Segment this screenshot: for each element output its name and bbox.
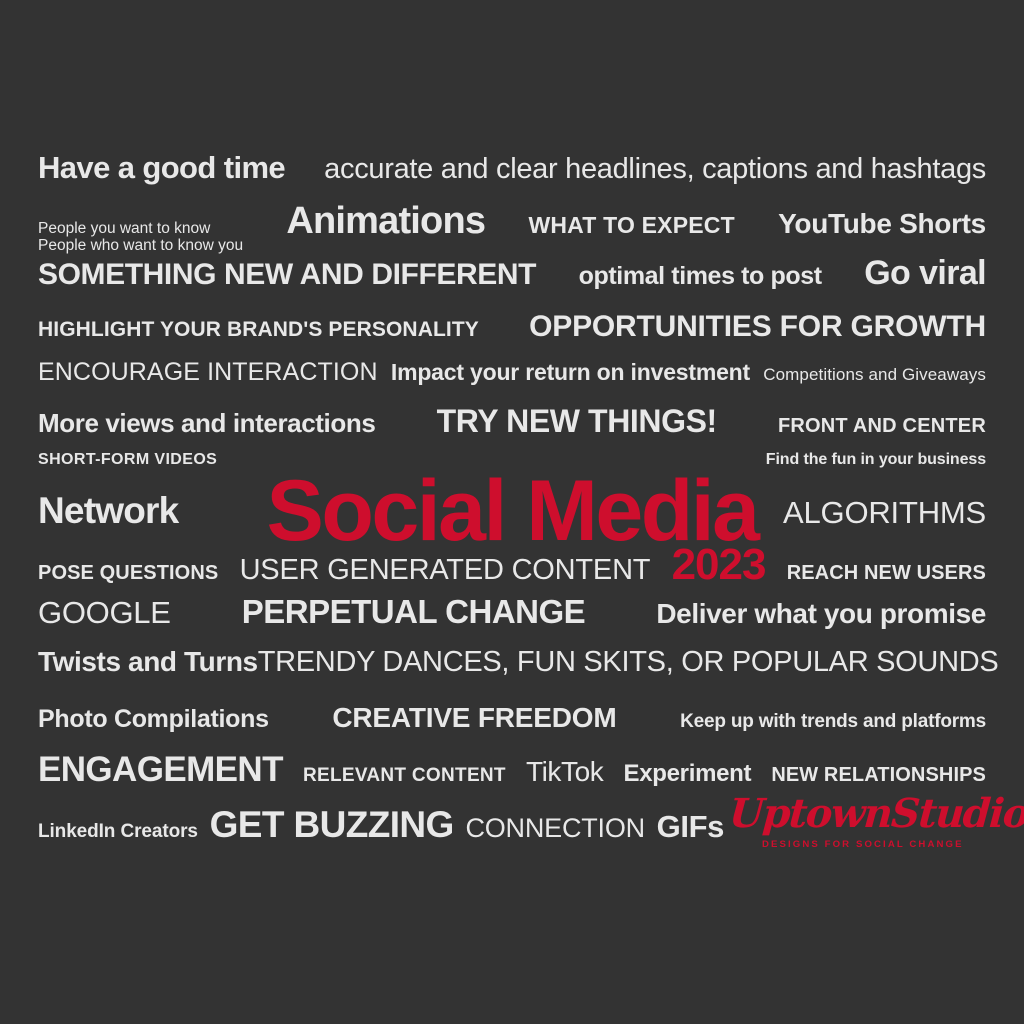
- word-youtube-shorts: YouTube Shorts: [778, 210, 986, 238]
- logo-tagline: DESIGNS FOR SOCIAL CHANGE: [762, 839, 986, 850]
- word-something-new-and-different: SOMETHING NEW AND DIFFERENT: [38, 260, 536, 290]
- word-gifs: GIFs: [657, 811, 724, 842]
- word-have-a-good-time: Have a good time: [38, 152, 285, 183]
- word-creative-freedom: CREATIVE FREEDOM: [332, 704, 616, 732]
- word-find-the-fun-in-your-business: Find the fun in your business: [766, 452, 986, 468]
- word-photo-compilations: Photo Compilations: [38, 707, 269, 732]
- word-connection: CONNECTION: [465, 815, 645, 842]
- word-accurate-headlines: accurate and clear headlines, captions a…: [324, 155, 986, 184]
- headline-year-2023: 2023: [672, 543, 766, 587]
- word-tiktok: TikTok: [526, 758, 603, 786]
- word-competitions-and-giveaways: Competitions and Giveaways: [763, 366, 986, 383]
- word-impact-your-return-on-investment: Impact your return on investment: [391, 361, 750, 384]
- word-cloud-row: LinkedIn Creators GET BUZZING CONNECTION…: [38, 806, 724, 843]
- word-new-relationships: NEW RELATIONSHIPS: [771, 765, 986, 785]
- word-cloud-row: Have a good time accurate and clear head…: [38, 152, 986, 184]
- word-google: GOOGLE: [38, 597, 171, 628]
- word-front-and-center: FRONT AND CENTER: [778, 416, 986, 436]
- logo-wordmark: UptownStudios: [728, 794, 989, 834]
- word-highlight-your-brands-personality: HIGHLIGHT YOUR BRAND'S PERSONALITY: [38, 319, 479, 340]
- word-pose-questions: POSE QUESTIONS: [38, 563, 218, 583]
- word-twists-and-turns: Twists and Turns: [38, 648, 258, 676]
- word-cloud-row: ENGAGEMENT RELEVANT CONTENT TikTok Exper…: [38, 752, 986, 787]
- word-try-new-things: TRY NEW THINGS!: [437, 405, 717, 437]
- word-cloud-row: People you want to know People who want …: [38, 202, 986, 255]
- word-cloud-row: POSE QUESTIONS USER GENERATED CONTENT 20…: [38, 543, 986, 587]
- word-more-views-and-interactions: More views and interactions: [38, 410, 375, 436]
- word-cloud-canvas: Have a good time accurate and clear head…: [0, 0, 1024, 1024]
- word-cloud-row: Twists and Turns TRENDY DANCES, FUN SKIT…: [38, 648, 986, 677]
- word-get-buzzing: GET BUZZING: [210, 806, 454, 843]
- word-encourage-interaction: ENCOURAGE INTERACTION: [38, 360, 378, 385]
- people-line-1: People you want to know: [38, 220, 210, 237]
- word-cloud-row: SOMETHING NEW AND DIFFERENT optimal time…: [38, 256, 986, 290]
- word-cloud-row: ENCOURAGE INTERACTION Impact your return…: [38, 360, 986, 385]
- word-cloud-row: More views and interactions TRY NEW THIN…: [38, 405, 986, 437]
- word-engagement: ENGAGEMENT: [38, 752, 283, 787]
- word-algorithms: ALGORITHMS: [783, 497, 986, 528]
- word-cloud-row: Network ALGORITHMS: [38, 492, 986, 529]
- word-experiment: Experiment: [624, 762, 752, 786]
- word-keep-up-with-trends-and-platforms: Keep up with trends and platforms: [680, 712, 986, 731]
- word-relevant-content: RELEVANT CONTENT: [303, 766, 506, 785]
- word-user-generated-content: USER GENERATED CONTENT: [240, 556, 651, 585]
- uptown-studios-logo: UptownStudios DESIGNS FOR SOCIAL CHANGE: [728, 794, 986, 866]
- word-people-you-want-to-know: People you want to know People who want …: [38, 220, 243, 255]
- word-cloud-row: GOOGLE PERPETUAL CHANGE Deliver what you…: [38, 595, 986, 628]
- word-trendy-dances-fun-skits: TRENDY DANCES, FUN SKITS, OR POPULAR SOU…: [258, 648, 999, 677]
- word-opportunities-for-growth: OPPORTUNITIES FOR GROWTH: [529, 312, 986, 342]
- word-cloud-row: HIGHLIGHT YOUR BRAND'S PERSONALITY OPPOR…: [38, 312, 986, 342]
- word-perpetual-change: PERPETUAL CHANGE: [242, 595, 585, 628]
- word-cloud-row: Photo Compilations CREATIVE FREEDOM Keep…: [38, 704, 986, 732]
- word-network: Network: [38, 492, 178, 529]
- people-line-2: People who want to know you: [38, 237, 243, 254]
- word-reach-new-users: REACH NEW USERS: [787, 563, 986, 583]
- word-go-viral: Go viral: [864, 256, 986, 290]
- word-what-to-expect: WHAT TO EXPECT: [528, 214, 734, 237]
- word-short-form-videos: SHORT-FORM VIDEOS: [38, 452, 217, 468]
- word-linkedin-creators: LinkedIn Creators: [38, 822, 198, 841]
- word-animations: Animations: [286, 202, 485, 240]
- word-optimal-times-to-post: optimal times to post: [579, 264, 822, 289]
- word-deliver-what-you-promise: Deliver what you promise: [656, 600, 986, 628]
